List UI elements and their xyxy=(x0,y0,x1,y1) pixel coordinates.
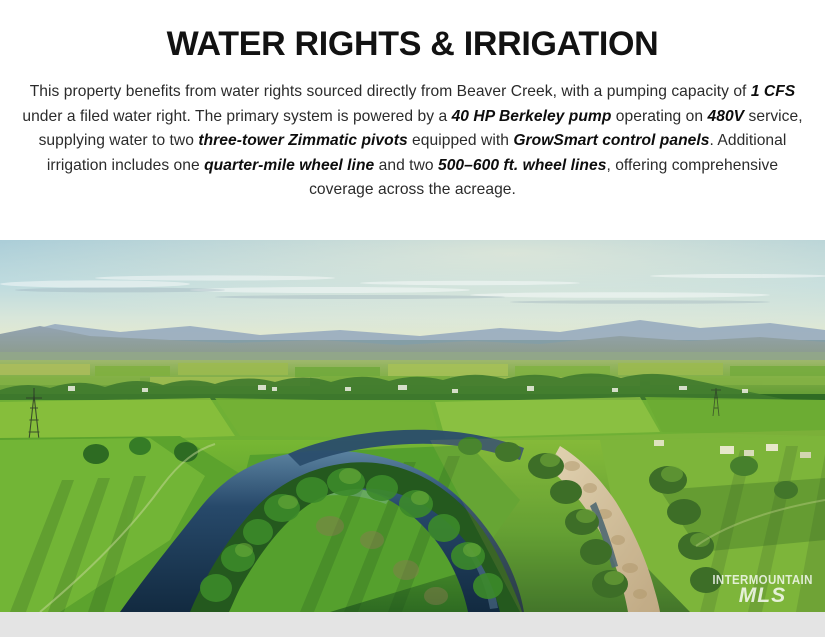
section-description: This property benefits from water rights… xyxy=(18,80,807,203)
body-emphasis-1: 1 CFS xyxy=(751,83,795,100)
body-emphasis-5: 480V xyxy=(708,108,745,125)
property-photo: INTERMOUNTAIN MLS xyxy=(0,240,825,612)
aerial-landscape-illustration xyxy=(0,240,825,612)
property-listing-slide: WATER RIGHTS & IRRIGATION This property … xyxy=(0,0,825,637)
body-emphasis-13: 500–600 ft. wheel lines xyxy=(438,157,606,174)
body-emphasis-9: GrowSmart control panels xyxy=(513,132,709,149)
body-text-2: under a filed water right. The primary s… xyxy=(22,108,451,125)
text-section: WATER RIGHTS & IRRIGATION This property … xyxy=(0,0,825,240)
body-text-12: and two xyxy=(374,157,438,174)
body-emphasis-7: three-tower Zimmatic pivots xyxy=(198,132,407,149)
body-text-0: This property benefits from water rights… xyxy=(30,83,751,100)
bottom-strip xyxy=(0,612,825,637)
body-emphasis-3: 40 HP Berkeley pump xyxy=(452,108,612,125)
page-title: WATER RIGHTS & IRRIGATION xyxy=(0,24,825,64)
body-text-4: operating on xyxy=(611,108,707,125)
body-text-8: equipped with xyxy=(408,132,514,149)
body-emphasis-11: quarter-mile wheel line xyxy=(204,157,374,174)
